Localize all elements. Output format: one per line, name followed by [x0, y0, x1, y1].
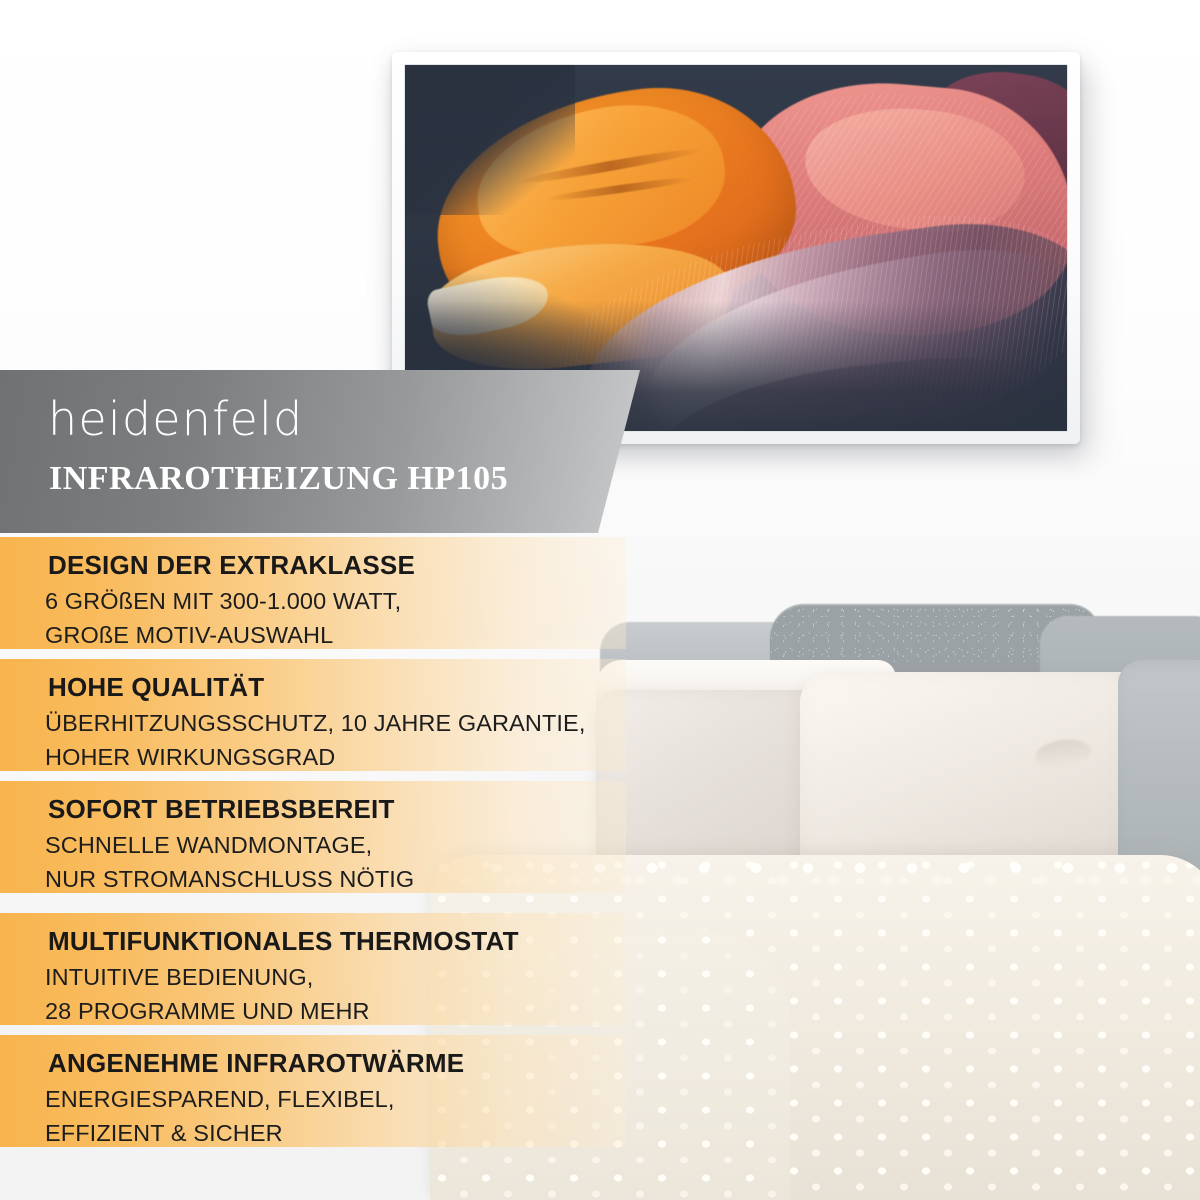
feature-title-4: MULTIFUNKTIONALES THERMOSTAT [48, 928, 519, 954]
feature-line1-2: ÜBERHITZUNGSSCHUTZ, 10 JAHRE GARANTIE, [45, 712, 585, 736]
feature-line1-1: 6 GRÖßEN MIT 300-1.000 WATT, [45, 590, 401, 614]
brand-name: heidenfeld [48, 396, 303, 442]
feature-line2-1: GROßE MOTIV-AUSWAHL [45, 624, 333, 648]
feature-line1-3: SCHNELLE WANDMONTAGE, [45, 834, 372, 858]
feature-line2-3: NUR STROMANSCHLUSS NÖTIG [45, 868, 414, 892]
feature-line2-2: HOHER WIRKUNGSGRAD [45, 746, 335, 770]
product-marketing-image: heidenfeld INFRAROTHEIZUNG HP105 DESIGN … [0, 0, 1200, 1200]
feature-title-5: ANGENEHME INFRAROTWÄRME [48, 1050, 464, 1076]
feature-line2-5: EFFIZIENT & SICHER [45, 1122, 283, 1146]
canyon-shadow-left [405, 65, 575, 215]
product-title: INFRAROTHEIZUNG HP105 [49, 462, 508, 496]
feature-line2-4: 28 PROGRAMME UND MEHR [45, 1000, 370, 1024]
feature-title-1: DESIGN DER EXTRAKLASSE [48, 552, 415, 578]
feature-title-2: HOHE QUALITÄT [48, 674, 264, 700]
feature-title-3: SOFORT BETRIEBSBEREIT [48, 796, 395, 822]
feature-line1-5: ENERGIESPAREND, FLEXIBEL, [45, 1088, 394, 1112]
feature-line1-4: INTUITIVE BEDIENUNG, [45, 966, 313, 990]
